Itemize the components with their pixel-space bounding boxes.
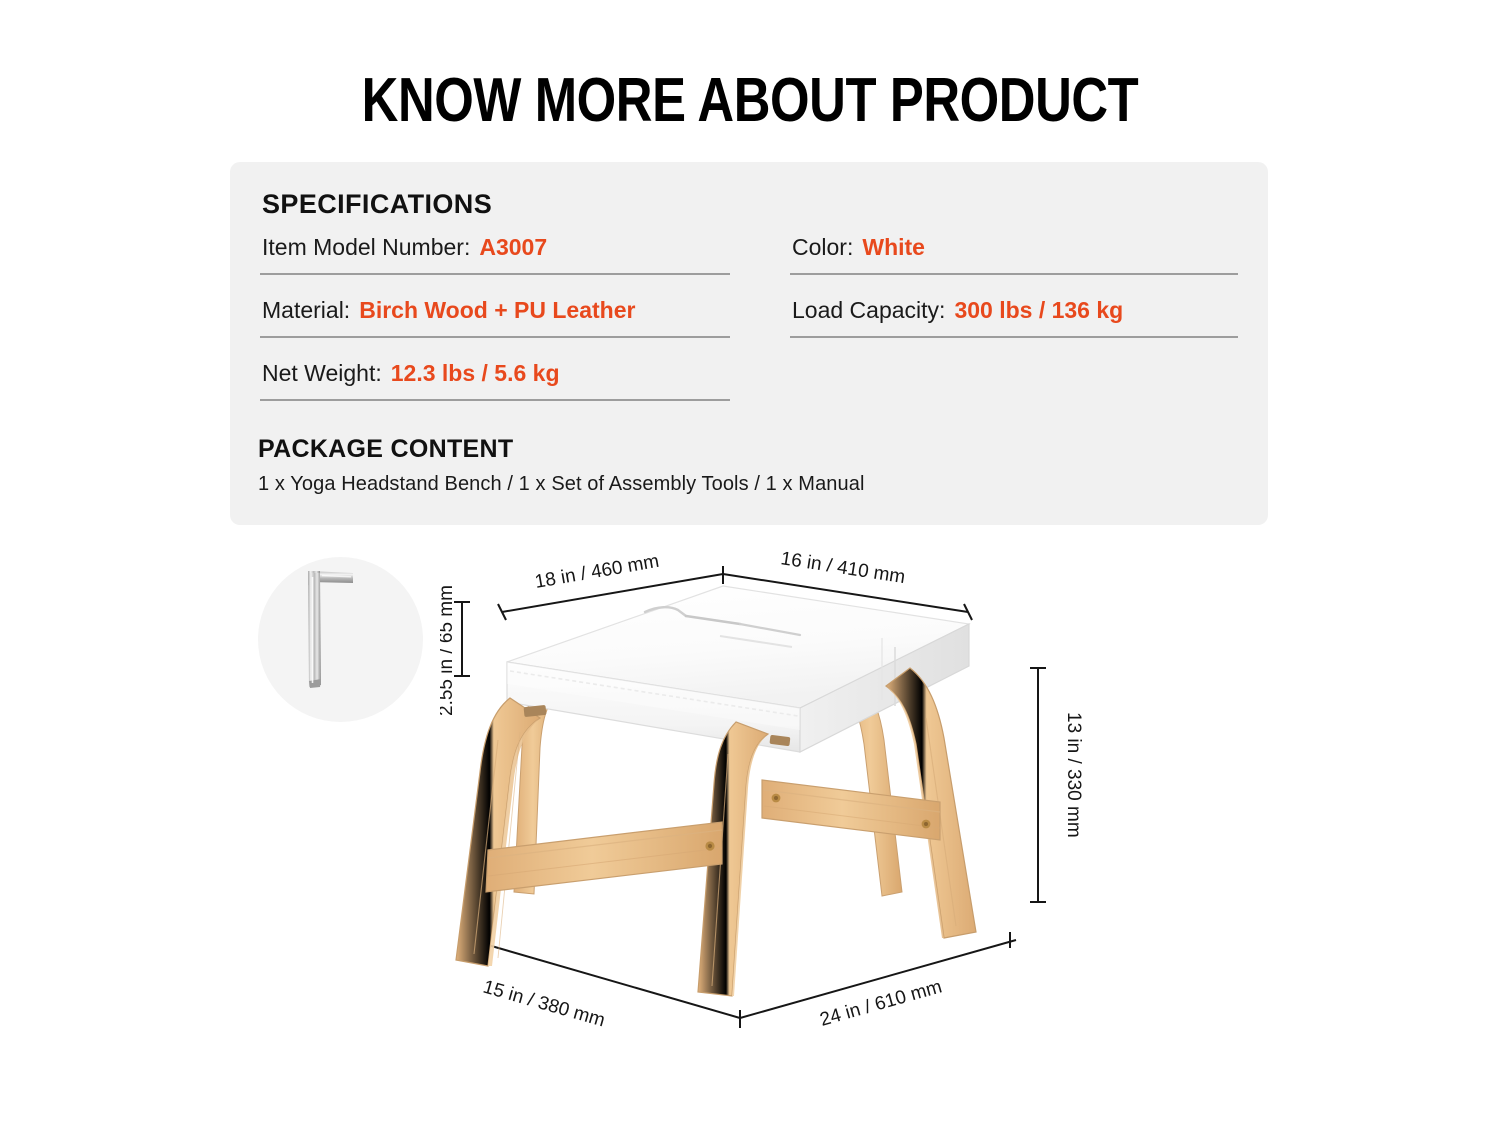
spec-row-load-capacity: Load Capacity: 300 lbs / 136 kg: [790, 293, 1238, 338]
dimension-label-leg-height: 13 in / 330 mm: [1063, 712, 1084, 838]
specifications-heading: SPECIFICATIONS: [262, 189, 492, 220]
spec-value: 12.3 lbs / 5.6 kg: [391, 360, 560, 387]
spec-row-item-model-number: Item Model Number: A3007: [260, 230, 730, 275]
product-spec-page: KNOW MORE ABOUT PRODUCT SPECIFICATIONS I…: [0, 0, 1500, 1125]
spec-row-material: Material: Birch Wood + PU Leather: [260, 293, 730, 338]
dimension-label-bottom-right: 24 in / 610 mm: [818, 976, 945, 1030]
spec-row-color: Color: White: [790, 230, 1238, 275]
spec-label: Item Model Number:: [262, 234, 470, 261]
assembly-tool-badge: [258, 557, 423, 722]
page-title: KNOW MORE ABOUT PRODUCT: [135, 66, 1365, 136]
spec-label: Net Weight:: [262, 360, 382, 387]
dimension-label-top-left: 18 in / 460 mm: [533, 551, 660, 593]
spec-label: Load Capacity:: [792, 297, 945, 324]
package-content-heading: PACKAGE CONTENT: [258, 435, 865, 464]
package-content-block: PACKAGE CONTENT 1 x Yoga Headstand Bench…: [258, 435, 865, 496]
specifications-right-column: Color: White Load Capacity: 300 lbs / 13…: [760, 230, 1268, 401]
spec-label: Material:: [262, 297, 350, 324]
spec-value: White: [862, 234, 925, 261]
dimension-label-cushion-height: 2.55 in / 65 mm: [440, 585, 457, 716]
dimension-label-top-right: 16 in / 410 mm: [779, 548, 906, 588]
spec-label: Color:: [792, 234, 853, 261]
product-illustration: 18 in / 460 mm 16 in / 410 mm 2.55 in / …: [440, 540, 1090, 1070]
hex-key-icon: [258, 557, 423, 722]
spec-value: Birch Wood + PU Leather: [359, 297, 635, 324]
specifications-left-column: Item Model Number: A3007 Material: Birch…: [230, 230, 760, 401]
spec-value: A3007: [479, 234, 547, 261]
spec-row-net-weight: Net Weight: 12.3 lbs / 5.6 kg: [260, 356, 730, 401]
dimension-label-bottom-left: 15 in / 380 mm: [481, 977, 608, 1032]
spec-value: 300 lbs / 136 kg: [954, 297, 1123, 324]
specifications-columns: Item Model Number: A3007 Material: Birch…: [230, 230, 1268, 401]
package-content-items: 1 x Yoga Headstand Bench / 1 x Set of As…: [258, 473, 865, 496]
